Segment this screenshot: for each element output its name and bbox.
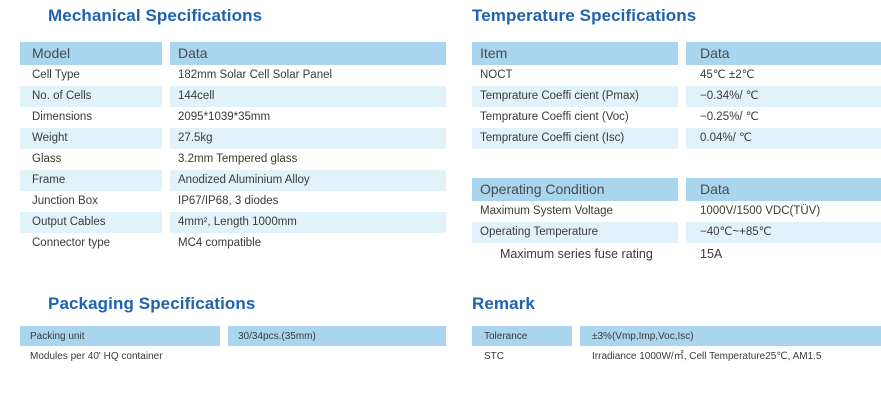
column-gap — [678, 42, 686, 65]
table-row: No. of Cells 144cell — [20, 86, 446, 107]
mechanical-specifications-title: Mechanical Specifications — [48, 6, 262, 26]
row-value: −40℃~+85℃ — [686, 222, 881, 243]
row-value: 30/34pcs.(35mm) — [228, 326, 446, 346]
table-row: Tolerance ±3%(Vmp,Imp,Voc,Isc) — [472, 326, 881, 346]
spec-sheet: Mechanical Specifications Model Data Cel… — [0, 0, 881, 400]
row-label: Connector type — [20, 233, 162, 254]
table-row: Maximum series fuse rating 15A — [472, 243, 881, 267]
table-row: Temprature Coeffi cient (Voc) −0.25%/ ℃ — [472, 107, 881, 128]
row-label: Junction Box — [20, 191, 162, 212]
table-row: Modules per 40' HQ container — [20, 346, 446, 366]
table-row: NOCT 45℃ ±2℃ — [472, 65, 881, 86]
table-row: Junction Box IP67/IP68, 3 diodes — [20, 191, 446, 212]
column-gap — [678, 178, 686, 201]
row-label: Output Cables — [20, 212, 162, 233]
table-row: Temprature Coeffi cient (Isc) 0.04%/ ℃ — [472, 128, 881, 149]
table-row: Output Cables 4mm², Length 1000mm — [20, 212, 446, 233]
row-value: 2095*1039*35mm — [170, 107, 446, 128]
table-row: Packing unit 30/34pcs.(35mm) — [20, 326, 446, 346]
row-label: Cell Type — [20, 65, 162, 86]
column-header-model: Model — [20, 42, 162, 65]
row-label: Maximum System Voltage — [472, 201, 678, 222]
row-value: 1000V/1500 VDC(TÜV) — [686, 201, 881, 222]
column-gap — [162, 191, 170, 212]
row-value: −0.25%/ ℃ — [686, 107, 881, 128]
column-gap — [678, 243, 686, 267]
column-gap — [162, 107, 170, 128]
column-gap — [678, 107, 686, 128]
row-label: Glass — [20, 149, 162, 170]
row-label: Temprature Coeffi cient (Isc) — [472, 128, 678, 149]
remark-title: Remark — [472, 294, 535, 314]
row-value: 182mm Solar Cell Solar Panel — [170, 65, 446, 86]
column-gap — [220, 326, 228, 346]
packaging-specifications-title: Packaging Specifications — [48, 294, 255, 314]
column-gap — [678, 86, 686, 107]
row-label: Weight — [20, 128, 162, 149]
operating-condition-table: Operating Condition Data Maximum System … — [472, 178, 881, 267]
table-row: Glass 3.2mm Tempered glass — [20, 149, 446, 170]
row-value: 0.04%/ ℃ — [686, 128, 881, 149]
column-gap — [572, 346, 580, 366]
table-row: Dimensions 2095*1039*35mm — [20, 107, 446, 128]
column-gap — [678, 201, 686, 222]
column-header-item: Item — [472, 42, 678, 65]
table-header-row: Item Data — [472, 42, 881, 65]
table-row: STC Irradiance 1000W/㎡, Cell Temperature… — [472, 346, 881, 366]
row-label: NOCT — [472, 65, 678, 86]
row-value: −0.34%/ ℃ — [686, 86, 881, 107]
row-value: 4mm², Length 1000mm — [170, 212, 446, 233]
column-header-data: Data — [170, 42, 446, 65]
row-label: No. of Cells — [20, 86, 162, 107]
column-gap — [162, 233, 170, 254]
row-label: Temprature Coeffi cient (Pmax) — [472, 86, 678, 107]
row-value: ±3%(Vmp,Imp,Voc,Isc) — [580, 326, 881, 346]
row-value: Irradiance 1000W/㎡, Cell Temperature25℃,… — [580, 346, 881, 366]
table-header-row: Model Data — [20, 42, 446, 65]
table-row: Frame Anodized Aluminium Alloy — [20, 170, 446, 191]
row-label: Temprature Coeffi cient (Voc) — [472, 107, 678, 128]
column-header-data: Data — [686, 42, 881, 65]
column-gap — [220, 346, 228, 366]
row-value: 144cell — [170, 86, 446, 107]
row-value: 15A — [686, 243, 881, 267]
column-gap — [678, 65, 686, 86]
row-label: Tolerance — [472, 326, 572, 346]
column-gap — [162, 149, 170, 170]
temperature-specifications-table: Item Data NOCT 45℃ ±2℃ Temprature Coeffi… — [472, 42, 881, 149]
table-row: Cell Type 182mm Solar Cell Solar Panel — [20, 65, 446, 86]
row-value — [228, 346, 446, 366]
row-value: 45℃ ±2℃ — [686, 65, 881, 86]
mechanical-specifications-table: Model Data Cell Type 182mm Solar Cell So… — [20, 42, 446, 254]
left-column: Mechanical Specifications Model Data Cel… — [0, 0, 450, 400]
row-label: Modules per 40' HQ container — [20, 346, 220, 366]
row-value: 27.5kg — [170, 128, 446, 149]
packaging-specifications-table: Packing unit 30/34pcs.(35mm) Modules per… — [20, 326, 446, 366]
row-value: Anodized Aluminium Alloy — [170, 170, 446, 191]
table-row: Maximum System Voltage 1000V/1500 VDC(TÜ… — [472, 201, 881, 222]
row-value: MC4 compatible — [170, 233, 446, 254]
column-gap — [162, 42, 170, 65]
table-row: Weight 27.5kg — [20, 128, 446, 149]
remark-table: Tolerance ±3%(Vmp,Imp,Voc,Isc) STC Irrad… — [472, 326, 881, 366]
column-gap — [678, 128, 686, 149]
column-gap — [162, 128, 170, 149]
row-value: 3.2mm Tempered glass — [170, 149, 446, 170]
row-label: Maximum series fuse rating — [472, 243, 678, 267]
temperature-specifications-title: Temperature Specifications — [472, 6, 696, 26]
column-gap — [162, 212, 170, 233]
column-gap — [162, 65, 170, 86]
row-label: Packing unit — [20, 326, 220, 346]
table-row: Temprature Coeffi cient (Pmax) −0.34%/ ℃ — [472, 86, 881, 107]
column-gap — [162, 170, 170, 191]
column-header-operating-condition: Operating Condition — [472, 178, 678, 201]
column-header-data: Data — [686, 178, 881, 201]
row-label: Frame — [20, 170, 162, 191]
row-label: Dimensions — [20, 107, 162, 128]
table-header-row: Operating Condition Data — [472, 178, 881, 201]
table-row: Operating Temperature −40℃~+85℃ — [472, 222, 881, 243]
row-label: Operating Temperature — [472, 222, 678, 243]
table-row: Connector type MC4 compatible — [20, 233, 446, 254]
column-gap — [678, 222, 686, 243]
row-value: IP67/IP68, 3 diodes — [170, 191, 446, 212]
column-gap — [162, 86, 170, 107]
column-gap — [572, 326, 580, 346]
row-label: STC — [472, 346, 572, 366]
